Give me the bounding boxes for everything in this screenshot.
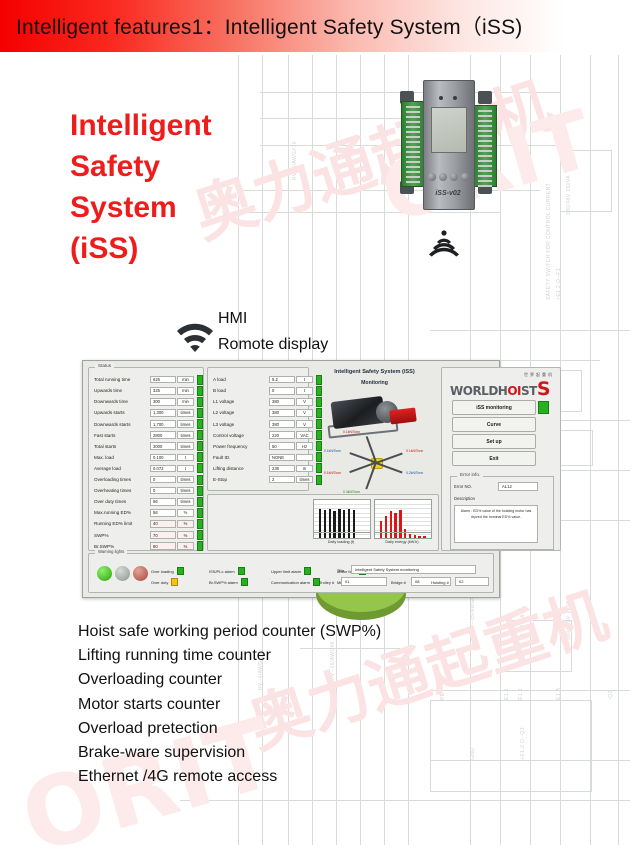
- row-label: Max. load: [94, 455, 150, 460]
- row-label: Overheating times: [94, 488, 150, 493]
- feature-item: Brake-ware supervision: [78, 741, 381, 765]
- row-led: [316, 441, 322, 451]
- row-label: B load: [213, 388, 269, 393]
- row-led: [197, 463, 203, 473]
- row-unit: t: [177, 454, 194, 462]
- row-led: [197, 452, 203, 462]
- daily-loading-chart: [313, 499, 371, 539]
- device-model-label: iSS-v02: [427, 190, 469, 197]
- panel-button-set-up[interactable]: Set up: [452, 434, 536, 449]
- chart-bar: [343, 510, 345, 538]
- daily-energy-caption: Daily energy (kW.h): [369, 540, 435, 544]
- chart-bar: [324, 510, 326, 538]
- data-row: E-Stop2times: [213, 474, 322, 485]
- row-led: [197, 430, 203, 440]
- row-led: [197, 386, 203, 396]
- device-lcd-screen: [431, 107, 467, 153]
- chart-bar: [423, 536, 425, 538]
- ray-label: 0.1kN/Tonn: [324, 471, 341, 475]
- row-value[interactable]: 0: [269, 387, 295, 395]
- row-label: Total running time: [94, 377, 150, 382]
- row-label: Over duty times: [94, 499, 150, 504]
- row-unit: times: [177, 442, 194, 450]
- row-led: [197, 419, 203, 429]
- row-unit: min: [177, 376, 194, 384]
- data-row: Max. load0.100t: [94, 452, 203, 463]
- big-title: Intelligent Safety System (iSS): [70, 105, 212, 269]
- panel-button-exit[interactable]: Exit: [452, 451, 536, 466]
- warning-lights-bar: Warning lights Over loadingOver dutyISS/…: [88, 553, 494, 593]
- row-unit: times: [177, 409, 194, 417]
- row-led: [197, 375, 203, 385]
- controller-device-image: iSS-v02: [396, 77, 500, 212]
- row-value[interactable]: 0: [150, 476, 176, 484]
- data-row: Power frequency50Hz: [213, 441, 322, 452]
- status-indicator: Over loading: [151, 567, 184, 575]
- chart-bar: [418, 536, 420, 538]
- monitor-title: Intelligent Safety System (iSS): [297, 369, 452, 375]
- row-label: Fault ID.: [213, 455, 269, 460]
- charts-group: 83% 17% Daily loading (t) Daily energy (…: [207, 494, 439, 551]
- row-value[interactable]: 56: [150, 509, 176, 517]
- chart-bar: [353, 510, 355, 538]
- schematic-label: 2x4kV--35/AWG#2: [470, 593, 476, 640]
- row-unit: min: [177, 398, 194, 406]
- big-title-line-1: Intelligent: [70, 105, 212, 146]
- row-unit: min: [177, 387, 194, 395]
- schematic-label: GND: [470, 748, 476, 760]
- monitor-subtitle: Monitoring: [297, 380, 452, 386]
- title-field-label: Title: [337, 568, 344, 573]
- data-row: Downwards time300min: [94, 396, 203, 407]
- row-label: L1 voltage: [213, 399, 269, 404]
- row-unit: V: [296, 398, 313, 406]
- row-led: [316, 386, 322, 396]
- row-unit: V: [296, 409, 313, 417]
- row-unit: %: [177, 542, 194, 550]
- chart-bar: [348, 509, 350, 538]
- row-label: A load: [213, 377, 269, 382]
- data-row: Max.running ED%56%: [94, 507, 203, 518]
- schematic-label: +E1.2 O--F1: [556, 268, 562, 300]
- data-row: SWP%70%: [94, 529, 203, 540]
- schematic-element: [240, 212, 500, 213]
- row-value[interactable]: 0.100: [150, 454, 176, 462]
- row-value[interactable]: 1,300: [150, 409, 176, 417]
- panel-button-curve[interactable]: Curve: [452, 417, 536, 432]
- hmi-screen-panel: Status Total running time625minUpwards t…: [82, 360, 500, 598]
- chart-bar: [399, 510, 401, 538]
- row-value[interactable]: 625: [150, 376, 176, 384]
- row-label: Fast starts: [94, 433, 150, 438]
- feature-list: Hoist safe working period counter (SWP%)…: [78, 620, 381, 789]
- feature-item: Overloading counter: [78, 668, 381, 692]
- schematic-element: [430, 330, 630, 331]
- lamp-red: [133, 566, 148, 581]
- feature-item: Hoist safe working period counter (SWP%): [78, 620, 381, 644]
- ray-label: 0.1kN/Tonn: [324, 449, 341, 453]
- bridge-label: Bridge #: [391, 580, 406, 585]
- row-label: L3 voltage: [213, 422, 269, 427]
- data-row: Over duty times56times: [94, 496, 203, 507]
- lamp-green: [97, 566, 112, 581]
- row-unit: [296, 454, 313, 462]
- row-unit: m: [296, 465, 313, 473]
- row-unit: VAC: [296, 431, 313, 439]
- data-row: Overloading times0times: [94, 474, 203, 485]
- chart-bar: [409, 534, 411, 538]
- row-unit: %: [177, 509, 194, 517]
- schematic-label: -Q2: [608, 690, 614, 700]
- big-title-line-3: System: [70, 187, 212, 228]
- chart-bar: [380, 521, 382, 538]
- schematic-label: 380/48V 150VA: [566, 175, 572, 215]
- big-title-line-4: (iSS): [70, 228, 212, 269]
- row-value[interactable]: 70: [150, 531, 176, 539]
- row-led: [197, 508, 203, 518]
- chart-bar: [333, 511, 335, 538]
- schematic-label: PE: [440, 693, 446, 700]
- row-value[interactable]: 40: [150, 520, 176, 528]
- row-unit: %: [177, 531, 194, 539]
- ray-label: 0.1kN/Tonn: [406, 449, 423, 453]
- page-header: Intelligent features1：Intelligent Safety…: [0, 0, 640, 52]
- row-label: Upwards starts: [94, 410, 150, 415]
- row-unit: times: [177, 487, 194, 495]
- hmi-caption-line-1: HMI: [218, 306, 328, 332]
- row-unit: t: [177, 465, 194, 473]
- row-label: Control voltage: [213, 433, 269, 438]
- terminal-block-left: [401, 101, 425, 187]
- status-indicator: Br.SWP% alarm: [209, 578, 248, 586]
- schematic-element: [500, 620, 572, 672]
- right-control-panel: 世界起重机 WORLDHOISTS iSS monitoringCurveSet…: [441, 367, 561, 551]
- row-unit: times: [177, 476, 194, 484]
- error-no-value: AL12: [498, 482, 538, 491]
- row-value[interactable]: 2: [269, 476, 295, 484]
- row-value[interactable]: 3000: [150, 442, 176, 450]
- data-row: Average load0.072t: [94, 463, 203, 474]
- row-value[interactable]: 380: [269, 420, 295, 428]
- schematic-label: 380/220V 1kVA: [566, 600, 572, 640]
- hmi-caption: HMI Romote display: [218, 306, 328, 358]
- chart-bar: [394, 513, 396, 538]
- row-label: Total starts: [94, 444, 150, 449]
- terminal-block-right: [473, 105, 497, 187]
- data-row: L1 voltage380V: [213, 396, 322, 407]
- panel-button-iss-monitoring[interactable]: iSS monitoring: [452, 400, 536, 415]
- status-group-title: Status: [95, 363, 114, 368]
- row-label: SWP%: [94, 533, 150, 538]
- row-led: [197, 497, 203, 507]
- status-indicator: Communication alarm: [271, 578, 320, 586]
- schematic-label: RV--6/AWG#10: [292, 141, 298, 180]
- brand-logo: WORLDHOISTS: [450, 378, 550, 400]
- data-row: Lifting distance236m: [213, 463, 322, 474]
- row-led: [197, 397, 203, 407]
- chart-bar: [319, 509, 321, 538]
- button-led: [538, 401, 549, 414]
- data-row: Control voltage220VAC: [213, 430, 322, 441]
- description-label: Description: [454, 496, 475, 501]
- data-row: Total starts3000times: [94, 441, 203, 452]
- hoisting-value: 02: [455, 577, 489, 586]
- feature-item: Lifting running time counter: [78, 644, 381, 668]
- row-label: Average load: [94, 466, 150, 471]
- row-led: [197, 441, 203, 451]
- row-unit: t: [296, 387, 313, 395]
- row-value[interactable]: 236: [269, 465, 295, 473]
- data-row: L3 voltage380V: [213, 418, 322, 429]
- row-unit: V: [296, 420, 313, 428]
- row-label: L2 voltage: [213, 410, 269, 415]
- status-indicator: Upper limit alarm: [271, 567, 311, 575]
- row-led: [316, 397, 322, 407]
- chart-bar: [414, 535, 416, 538]
- row-led: [197, 530, 203, 540]
- row-value[interactable]: 380: [269, 409, 295, 417]
- schematic-element: [430, 700, 592, 792]
- data-row: Overheating times0times: [94, 485, 203, 496]
- row-value[interactable]: 325: [150, 387, 176, 395]
- row-led: [316, 475, 322, 485]
- chart-bar: [385, 516, 387, 538]
- daily-loading-caption: Daily loading (t): [308, 540, 374, 544]
- error-no-label: Error NO.: [454, 484, 472, 489]
- row-label: Lifting distance: [213, 466, 269, 471]
- wireless-broadcast-icon: [424, 228, 464, 258]
- schematic-element: [180, 800, 630, 801]
- row-label: Br.SWP%: [94, 544, 150, 549]
- row-label: E-Stop: [213, 477, 269, 482]
- data-row: Fast starts2800times: [94, 430, 203, 441]
- status-indicator: Over duty: [151, 578, 178, 586]
- row-label: Upwards time: [94, 388, 150, 393]
- row-unit: times: [296, 476, 313, 484]
- row-label: Max.running ED%: [94, 510, 150, 515]
- row-led: [316, 452, 322, 462]
- data-row: Upwards time325min: [94, 385, 203, 396]
- page-title: Intelligent features1：Intelligent Safety…: [16, 11, 522, 41]
- schematic-label: -Q1L: [528, 167, 534, 180]
- schematic-element: [430, 690, 630, 691]
- row-label: Downwards time: [94, 399, 150, 404]
- row-value[interactable]: 0.072: [150, 465, 176, 473]
- data-row: Running ED% limit40%: [94, 518, 203, 529]
- row-unit: times: [177, 431, 194, 439]
- row-led: [197, 408, 203, 418]
- row-led: [316, 419, 322, 429]
- feature-item: Overload pretection: [78, 717, 381, 741]
- schematic-element: [618, 55, 619, 845]
- row-unit: times: [177, 498, 194, 506]
- schematic-label: E1.1: [504, 688, 510, 700]
- data-row: Fault ID.NONE: [213, 452, 322, 463]
- row-value[interactable]: 50: [269, 442, 295, 450]
- row-unit: Hz: [296, 442, 313, 450]
- schematic-label: E1.2: [518, 688, 524, 700]
- row-value[interactable]: 380: [269, 398, 295, 406]
- status-indicator: ISS/PLc alarm: [209, 567, 245, 575]
- data-row: Downwards starts1,700times: [94, 418, 203, 429]
- hmi-caption-line-2: Romote display: [218, 332, 328, 358]
- row-led: [316, 408, 322, 418]
- hoisting-label: Hoisting #: [431, 580, 449, 585]
- row-value[interactable]: 56: [150, 498, 176, 506]
- row-value[interactable]: 80: [150, 542, 176, 550]
- row-label: Power frequency: [213, 444, 269, 449]
- row-value[interactable]: 2800: [150, 431, 176, 439]
- chart-bar: [338, 509, 340, 538]
- schematic-label: +E1.2 O--Q3: [520, 727, 526, 760]
- schematic-label: E1.A: [556, 688, 562, 700]
- row-led: [197, 519, 203, 529]
- row-led: [197, 475, 203, 485]
- data-row: B load0t: [213, 385, 322, 396]
- trolley-label: Trolley #: [319, 580, 334, 585]
- warning-lights-title: Warning lights: [95, 549, 127, 554]
- row-value[interactable]: 300: [150, 398, 176, 406]
- description-text: Alarm : ED% value of the hoisting motor …: [454, 505, 538, 543]
- row-unit: %: [177, 520, 194, 528]
- feature-item: Ethernet /4G remote access: [78, 765, 381, 789]
- row-value[interactable]: NONE: [269, 454, 295, 462]
- ray-label: 0.2kN/Tonn: [406, 471, 423, 475]
- row-label: Running ED% limit: [94, 521, 150, 526]
- row-led: [197, 486, 203, 496]
- big-title-line-2: Safety: [70, 146, 212, 187]
- chart-bar: [329, 509, 331, 538]
- row-label: Downwards starts: [94, 422, 150, 427]
- row-value[interactable]: 0: [150, 487, 176, 495]
- status-group: Status Total running time625minUpwards t…: [88, 367, 204, 551]
- feature-item: Motor starts counter: [78, 693, 381, 717]
- error-info-title: Error info.: [457, 472, 483, 477]
- row-label: Overloading times: [94, 477, 150, 482]
- data-row: Upwards starts1,300times: [94, 407, 203, 418]
- hoist-illustration: [326, 391, 422, 443]
- row-value[interactable]: 5.2: [269, 376, 295, 384]
- row-led: [197, 541, 203, 551]
- schematic-label: SET 200A: [520, 614, 526, 640]
- row-unit: times: [177, 420, 194, 428]
- trolley-value: 01: [341, 577, 387, 586]
- ray-label: 0.1kN/Tonn: [343, 430, 360, 434]
- data-row: L2 voltage380V: [213, 407, 322, 418]
- lamp-gray: [115, 566, 130, 581]
- row-led: [316, 430, 322, 440]
- row-value[interactable]: 1,700: [150, 420, 176, 428]
- row-led: [316, 463, 322, 473]
- title-field-value: Intelligent Safety System monitoring: [351, 565, 476, 574]
- measurement-group: A load5.2tB load0tL1 voltage380VL2 volta…: [207, 367, 309, 491]
- row-value[interactable]: 220: [269, 431, 295, 439]
- daily-energy-chart: [374, 499, 432, 539]
- chart-bar: [390, 511, 392, 538]
- schematic-label: SAFETY SWITCH FOR CONTROL CURRENT: [546, 183, 552, 300]
- data-row: Total running time625min: [94, 374, 203, 385]
- chart-bar: [404, 529, 406, 538]
- wifi-icon: [175, 322, 215, 354]
